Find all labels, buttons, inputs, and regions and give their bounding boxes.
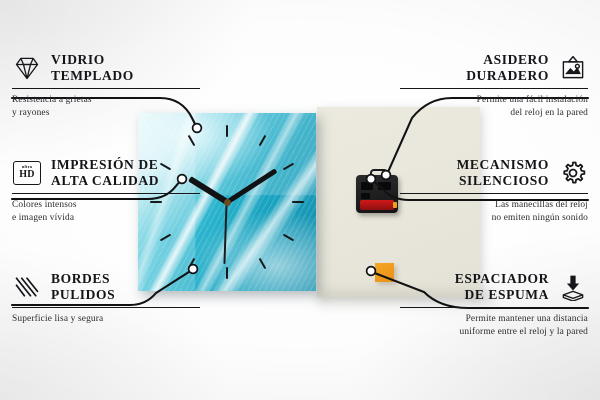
feature-desc-line1: Las manecillas del reloj [400,199,588,212]
feature-rule [12,88,200,90]
feature-title-line1: ESPACIADOR [455,271,549,287]
feature-title-line2: ALTA CALIDAD [51,173,159,189]
feature-desc-line1: Colores intensos [12,199,200,212]
mechanism-hook [370,169,388,180]
feature-desc-line1: Resistencia a grietas [12,94,200,107]
clock-tick [226,267,228,279]
feature-impresion-alta-calidad: ultra HD IMPRESIÓN DE ALTA CALIDAD Color… [12,157,200,224]
feature-desc-line2: uniforme entre el reloj y la pared [400,326,588,339]
feature-bordes-pulidos: BORDES PULIDOS Superficie lisa y segura [12,271,200,326]
feature-desc-line1: Permite mantener una distancia [400,313,588,326]
feature-title-line2: SILENCIOSO [457,173,549,189]
feature-title-line2: DE ESPUMA [455,287,549,303]
ultra-hd-icon: ultra HD [12,158,42,188]
feature-vidrio-templado: VIDRIO TEMPLADO Resistencia a grietas y … [12,52,200,119]
gear-icon [558,158,588,188]
feature-title-line1: ASIDERO [466,52,549,68]
feature-rule [400,88,588,90]
aa-battery [360,200,394,210]
feature-title-line1: IMPRESIÓN DE [51,157,159,173]
diamond-icon [12,53,42,83]
feature-title-line1: BORDES [51,271,115,287]
clock-mechanism [356,175,398,213]
clock-tick [292,201,304,203]
feature-title-line1: MECANISMO [457,157,549,173]
feature-title-line2: PULIDOS [51,287,115,303]
feature-rule [400,307,588,309]
foam-spacer [375,263,394,282]
feature-title-line1: VIDRIO [51,52,134,68]
picture-hanger-icon [558,53,588,83]
polished-edges-icon [12,272,42,302]
feature-title-line2: DURADERO [466,68,549,84]
feature-desc-line1: Superficie lisa y segura [12,313,200,326]
feature-desc-line2: no emiten ningún sonido [400,212,588,225]
clock-center-cap [224,199,231,206]
feature-rule [12,193,200,195]
feature-asidero-duradero: ASIDERO DURADERO Permite una fácil insta… [400,52,588,119]
ultra-hd-icon-main: HD [19,170,35,180]
feature-rule [400,193,588,195]
feature-rule [12,307,200,309]
feature-desc-line2: e imagen vívida [12,212,200,225]
feature-mecanismo-silencioso: MECANISMO SILENCIOSO Las manecillas del … [400,157,588,224]
feature-desc-line2: y rayones [12,107,200,120]
feature-espaciador-de-espuma: ESPACIADOR DE ESPUMA Permite mantener un… [400,271,588,338]
feature-desc-line2: del reloj en la pared [400,107,588,120]
clock-tick [226,125,228,137]
feature-title-line2: TEMPLADO [51,68,134,84]
feature-desc-line1: Permite una fácil instalación [400,94,588,107]
infographic-canvas: VIDRIO TEMPLADO Resistencia a grietas y … [0,0,600,400]
foam-spacer-icon [558,272,588,302]
